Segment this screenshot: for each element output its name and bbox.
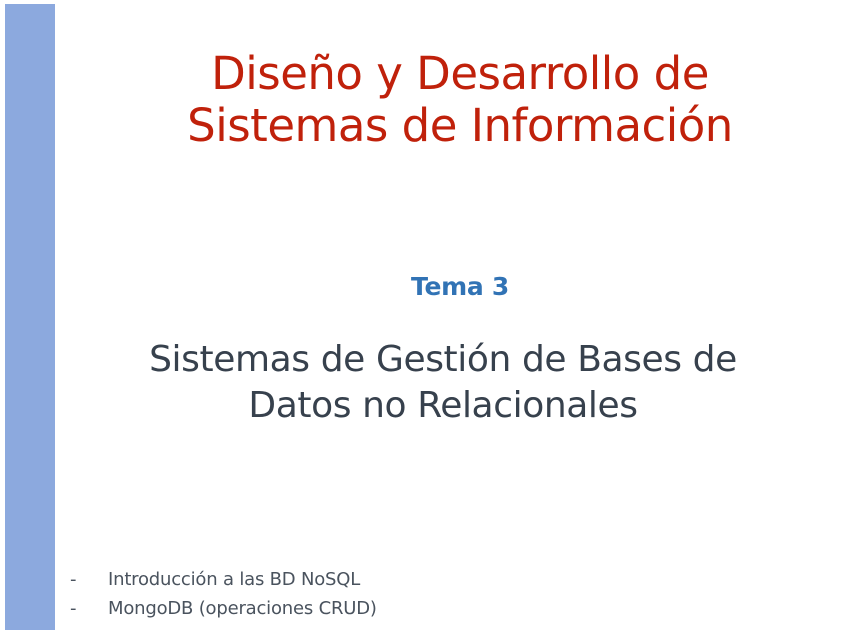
- title-line-2: Sistemas de Información: [110, 100, 810, 152]
- topic-label: Tema 3: [110, 272, 810, 302]
- list-item-label: MongoDB (operaciones CRUD): [108, 594, 377, 623]
- subtitle-line-1: Sistemas de Gestión de Bases de: [78, 337, 808, 383]
- list-item: - Introducción a las BD NoSQL: [70, 565, 630, 594]
- presentation-slide: Diseño y Desarrollo de Sistemas de Infor…: [0, 0, 848, 636]
- subtitle-line-2: Datos no Relacionales: [78, 383, 808, 429]
- slide-subtitle: Sistemas de Gestión de Bases de Datos no…: [78, 337, 808, 429]
- left-accent-band: [5, 4, 55, 630]
- dash-bullet-icon: -: [70, 594, 108, 623]
- list-item-label: Introducción a las BD NoSQL: [108, 565, 360, 594]
- contents-list: - Introducción a las BD NoSQL - MongoDB …: [70, 565, 630, 623]
- title-line-1: Diseño y Desarrollo de: [110, 48, 810, 100]
- list-item: - MongoDB (operaciones CRUD): [70, 594, 630, 623]
- dash-bullet-icon: -: [70, 565, 108, 594]
- slide-title: Diseño y Desarrollo de Sistemas de Infor…: [110, 48, 810, 152]
